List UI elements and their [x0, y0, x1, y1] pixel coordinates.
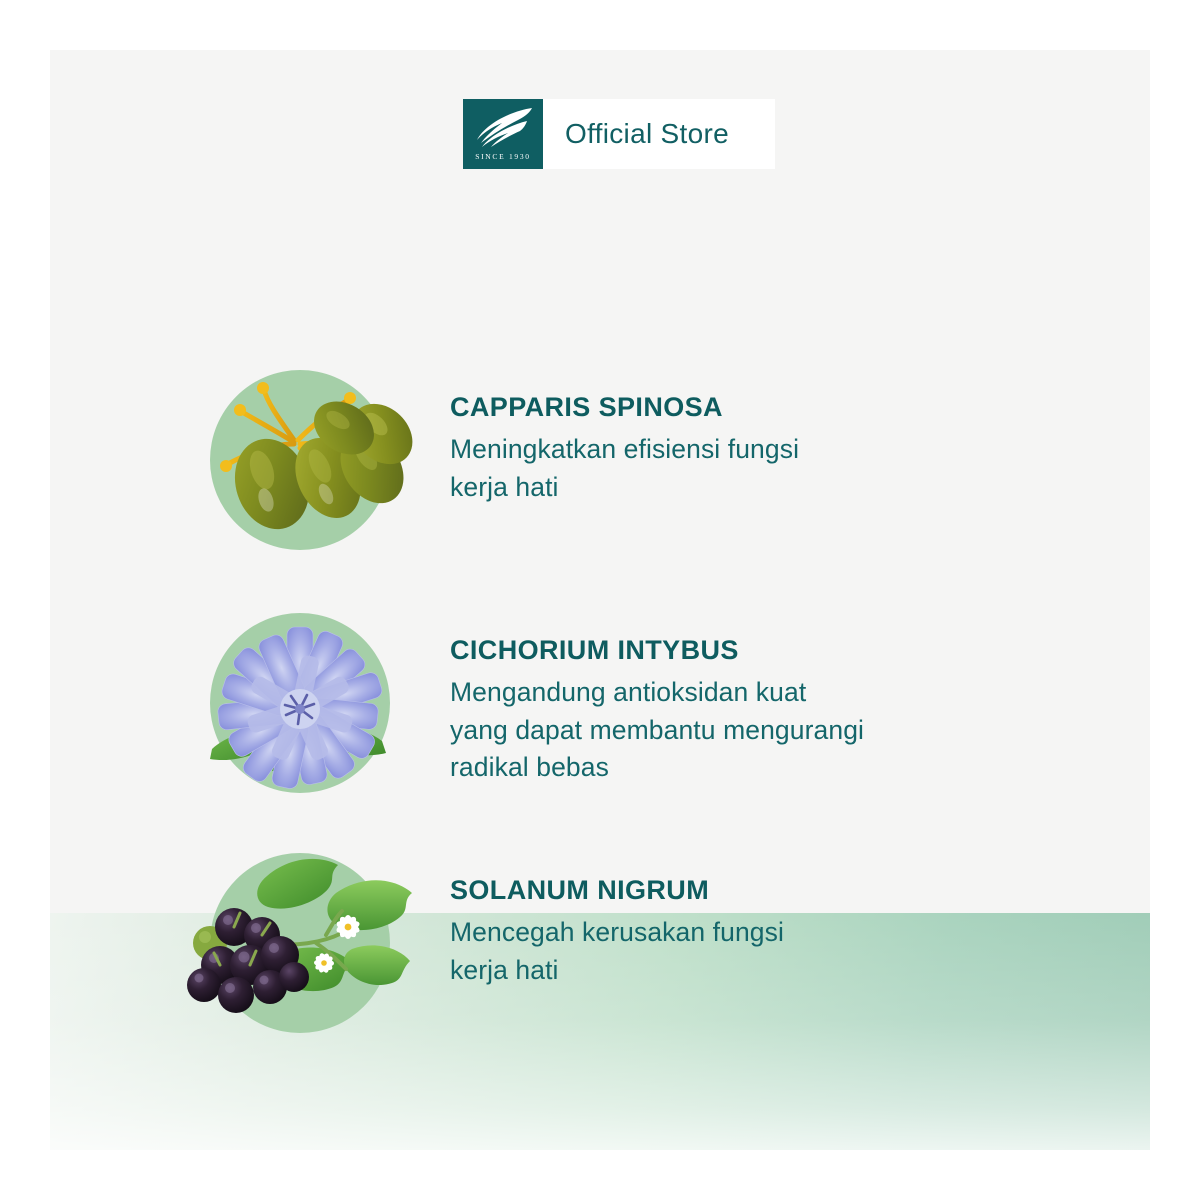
- official-store-label: Official Store: [543, 99, 775, 169]
- desc-line: kerja hati: [450, 952, 784, 990]
- ingredient-description: Mengandung antioksidan kuat yang dapat m…: [450, 674, 864, 787]
- ingredient-text: SOLANUM NIGRUM Mencegah kerusakan fungsi…: [450, 853, 784, 989]
- desc-line: Meningkatkan efisiensi fungsi: [450, 431, 799, 469]
- desc-line: yang dapat membantu mengurangi: [450, 712, 864, 750]
- logo-since-text: SINCE 1930: [475, 153, 531, 161]
- brand-logo-lockup[interactable]: SINCE 1930 Official Store: [463, 99, 775, 169]
- ingredient-title: SOLANUM NIGRUM: [450, 875, 784, 906]
- ingredient-item-capparis-spinosa: CAPPARIS SPINOSA Meningkatkan efisiensi …: [210, 370, 799, 550]
- black-nightshade-photo: [176, 831, 426, 1057]
- ingredient-item-cichorium-intybus: CICHORIUM INTYBUS Mengandung antioksidan…: [210, 613, 864, 793]
- ingredient-item-solanum-nigrum: SOLANUM NIGRUM Mencegah kerusakan fungsi…: [210, 853, 784, 1033]
- ingredient-media: [210, 853, 390, 1033]
- ingredient-title: CAPPARIS SPINOSA: [450, 392, 799, 423]
- caper-berries-photo: [176, 348, 426, 574]
- desc-line: kerja hati: [450, 469, 799, 507]
- ingredient-media: [210, 613, 390, 793]
- poster-canvas: SINCE 1930 Official Store: [0, 0, 1200, 1200]
- desc-line: radikal bebas: [450, 749, 864, 787]
- ingredient-media: [210, 370, 390, 550]
- content-card: SINCE 1930 Official Store: [50, 50, 1150, 1150]
- ingredient-description: Meningkatkan efisiensi fungsi kerja hati: [450, 431, 799, 506]
- ingredient-text: CAPPARIS SPINOSA Meningkatkan efisiensi …: [450, 370, 799, 506]
- ingredient-title: CICHORIUM INTYBUS: [450, 635, 864, 666]
- chicory-flower-photo: [176, 591, 426, 817]
- desc-line: Mengandung antioksidan kuat: [450, 674, 864, 712]
- ingredient-text: CICHORIUM INTYBUS Mengandung antioksidan…: [450, 613, 864, 787]
- ingredient-description: Mencegah kerusakan fungsi kerja hati: [450, 914, 784, 989]
- feather-leaf-logo-icon: SINCE 1930: [463, 99, 543, 169]
- desc-line: Mencegah kerusakan fungsi: [450, 914, 784, 952]
